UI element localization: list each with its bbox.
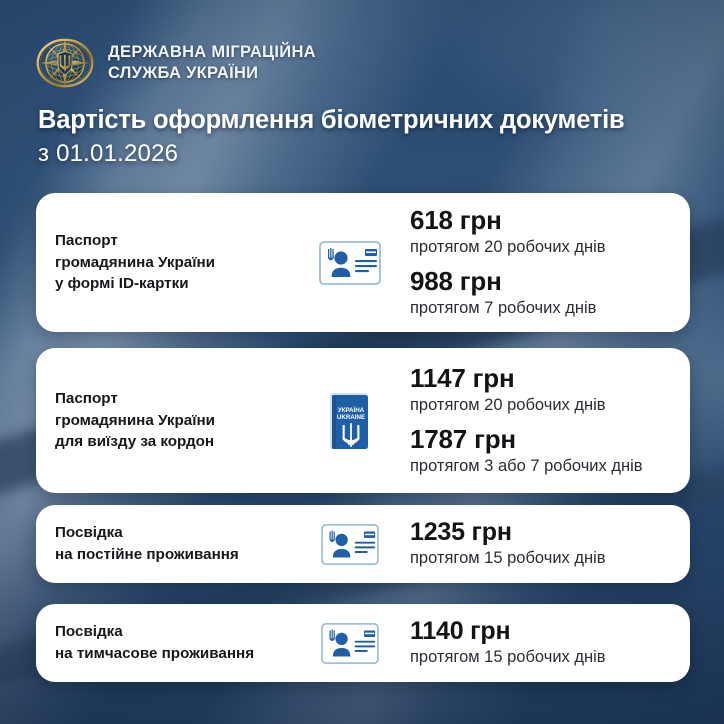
brand-line-2: СЛУЖБА УКРАЇНИ	[108, 63, 316, 84]
price-term: протягом 20 робочих днів	[410, 237, 690, 258]
card-prices: 1140 грн протягом 15 робочих днів	[406, 617, 690, 668]
card-label-line: у формі ID-картки	[55, 273, 294, 295]
card-label-line: Посвідка	[55, 522, 294, 544]
card-label: Паспорт громадянина України для виїзду з…	[36, 388, 294, 453]
card-prices: 1147 грн протягом 20 робочих днів 1787 г…	[406, 364, 690, 477]
price-term: протягом 3 або 7 робочих днів	[410, 456, 690, 477]
price-amount: 1235 грн	[410, 518, 690, 546]
brand-line-1: ДЕРЖАВНА МІГРАЦІЙНА	[108, 42, 316, 63]
card-label-line: на тимчасове проживання	[55, 643, 294, 665]
price-amount: 988 грн	[410, 267, 690, 296]
card-label-line: на постійне проживання	[55, 544, 294, 566]
price-row: 1235 грн протягом 15 робочих днів	[410, 518, 690, 569]
price-amount: 1787 грн	[410, 425, 690, 454]
infographic-content: ДЕРЖАВНА МІГРАЦІЙНА СЛУЖБА УКРАЇНИ Варті…	[0, 0, 724, 724]
price-row: 1147 грн протягом 20 робочих днів	[410, 364, 690, 417]
id-card-icon	[319, 241, 381, 285]
price-term: протягом 15 робочих днів	[410, 647, 690, 668]
card-label-line: Посвідка	[55, 621, 294, 643]
card-label: Посвідка на постійне проживання	[36, 522, 294, 565]
card-label: Паспорт громадянина України у формі ID-к…	[36, 230, 294, 295]
id-card-icon	[321, 623, 379, 664]
price-amount: 618 грн	[410, 206, 690, 235]
page-title: Вартість оформлення біометричних докумет…	[38, 106, 625, 167]
id-card-icon	[321, 524, 379, 565]
price-card-id-passport: Паспорт громадянина України у формі ID-к…	[36, 193, 690, 332]
price-term: протягом 20 робочих днів	[410, 395, 690, 416]
card-icon-slot: УКРАЇНА UKRAINE	[294, 390, 406, 452]
dms-globe-trident-emblem-icon	[36, 34, 94, 92]
brand-header: ДЕРЖАВНА МІГРАЦІЙНА СЛУЖБА УКРАЇНИ	[36, 34, 316, 92]
price-row: 1140 грн протягом 15 робочих днів	[410, 617, 690, 668]
brand-name: ДЕРЖАВНА МІГРАЦІЙНА СЛУЖБА УКРАЇНИ	[108, 42, 316, 84]
card-prices: 1235 грн протягом 15 робочих днів	[406, 518, 690, 569]
card-label-line: громадянина України	[55, 410, 294, 432]
price-term: протягом 15 робочих днів	[410, 548, 690, 569]
passport-icon-text-line-1: УКРАЇНА	[338, 407, 365, 414]
passport-book-icon: УКРАЇНА UKRAINE	[326, 390, 374, 452]
price-row: 988 грн протягом 7 робочих днів	[410, 267, 690, 320]
price-row: 1787 грн протягом 3 або 7 робочих днів	[410, 425, 690, 478]
price-row: 618 грн протягом 20 робочих днів	[410, 206, 690, 259]
card-label-line: Паспорт	[55, 230, 294, 252]
card-icon-slot	[294, 524, 406, 565]
passport-icon-text-line-2: UKRAINE	[337, 414, 365, 421]
card-icon-slot	[294, 623, 406, 664]
card-label: Посвідка на тимчасове проживання	[36, 621, 294, 664]
card-label-line: для виїзду за кордон	[55, 431, 294, 453]
card-icon-slot	[294, 241, 406, 285]
price-card-permanent-residence: Посвідка на постійне проживання	[36, 505, 690, 583]
title-subline: з 01.01.2026	[38, 140, 625, 168]
price-card-foreign-passport: Паспорт громадянина України для виїзду з…	[36, 348, 690, 493]
title-headline: Вартість оформлення біометричних докумет…	[38, 106, 625, 136]
card-prices: 618 грн протягом 20 робочих днів 988 грн…	[406, 206, 690, 319]
card-label-line: громадянина України	[55, 252, 294, 274]
card-label-line: Паспорт	[55, 388, 294, 410]
price-term: протягом 7 робочих днів	[410, 298, 690, 319]
price-amount: 1147 грн	[410, 364, 690, 393]
price-amount: 1140 грн	[410, 617, 690, 645]
price-card-temporary-residence: Посвідка на тимчасове проживання	[36, 604, 690, 682]
